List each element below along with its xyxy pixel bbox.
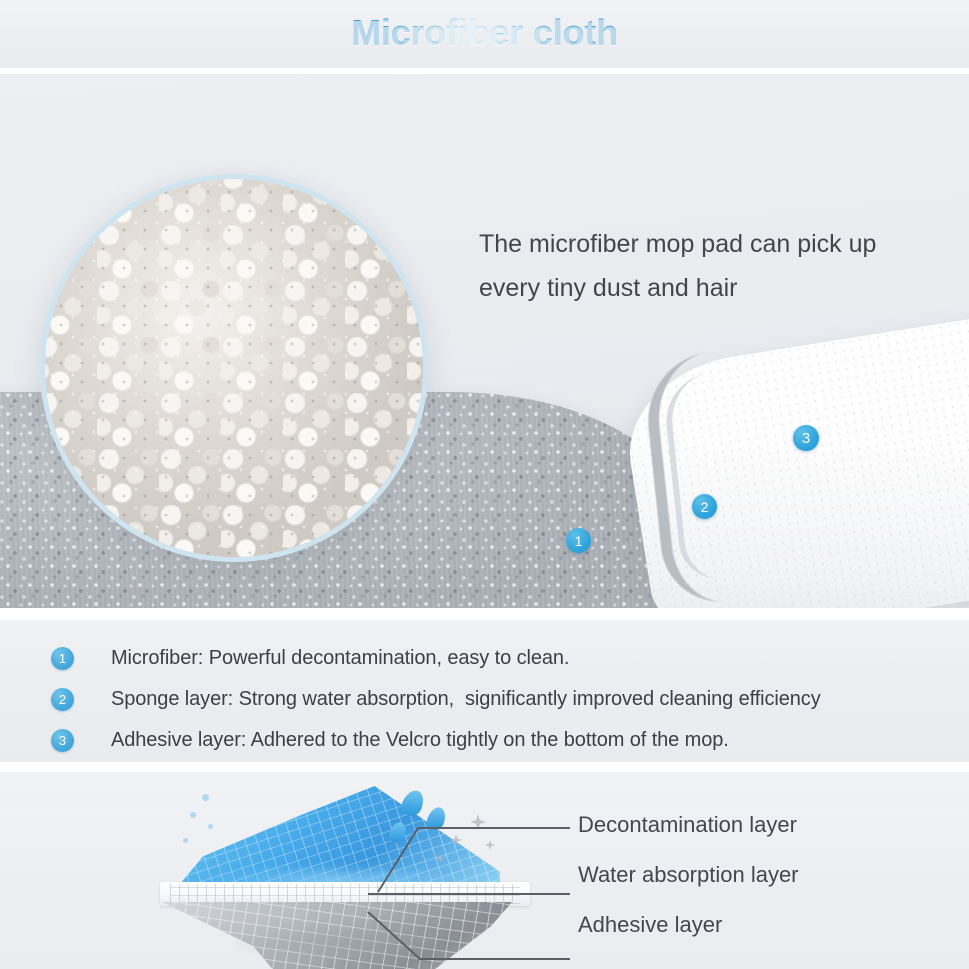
- layer-label-adhesive: Adhesive layer: [578, 912, 722, 938]
- divider-hero-features: [0, 608, 969, 620]
- hero-caption-line-1: The microfiber mop pad can pick up: [479, 222, 919, 266]
- magnified-fiber-inset: [40, 174, 428, 562]
- feature-list: 1 Microfiber: Powerful decontamination, …: [0, 620, 969, 762]
- feature-bullet-2: 2: [51, 688, 74, 711]
- leader-line-adhesive: [368, 912, 570, 959]
- feature-text-2: Sponge layer: Strong water absorption, s…: [111, 688, 821, 711]
- divider-features-layers: [0, 762, 969, 772]
- list-item: 3 Adhesive layer: Adhered to the Velcro …: [0, 720, 969, 761]
- feature-text-1: Microfiber: Powerful decontamination, ea…: [111, 647, 569, 670]
- photo-badge-1: 1: [566, 528, 591, 553]
- page-title: Microfiber cloth: [351, 12, 618, 56]
- feature-bullet-1: 1: [51, 647, 74, 670]
- hero-product-photo: The microfiber mop pad can pick up every…: [0, 74, 969, 608]
- leader-line-decontamination: [378, 828, 570, 892]
- list-item: 1 Microfiber: Powerful decontamination, …: [0, 638, 969, 679]
- feature-bullet-3: 3: [51, 729, 74, 752]
- layer-label-decontamination: Decontamination layer: [578, 812, 797, 838]
- hero-caption: The microfiber mop pad can pick up every…: [479, 222, 919, 310]
- hero-caption-line-2: every tiny dust and hair: [479, 266, 919, 310]
- list-item: 2 Sponge layer: Strong water absorption,…: [0, 679, 969, 720]
- feature-text-3: Adhesive layer: Adhered to the Velcro ti…: [111, 729, 729, 752]
- photo-badge-3: 3: [793, 425, 819, 451]
- infographic-page: Microfiber cloth The microfiber mop pad …: [0, 0, 969, 969]
- leader-lines: [0, 772, 969, 969]
- layer-label-water-absorption: Water absorption layer: [578, 862, 799, 888]
- photo-badge-2: 2: [692, 494, 717, 519]
- title-banner: Microfiber cloth: [0, 0, 969, 68]
